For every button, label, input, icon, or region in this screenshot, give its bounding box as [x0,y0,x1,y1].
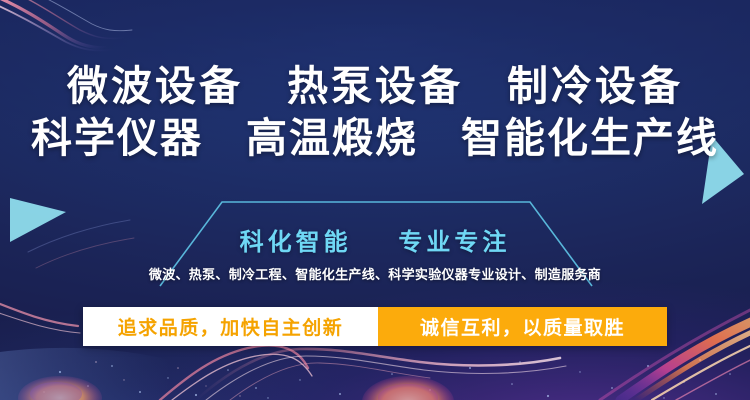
slogan-bar-left: 追求品质，加快自主创新 [83,307,378,346]
triangle-arrow-right-icon-right [700,130,746,210]
slogan-right: 专业专注 [398,228,510,256]
slogan-left: 科化智能 [240,228,352,256]
promo-banner: 微波设备 热泵设备 制冷设备 科学仪器 高温煅烧 智能化生产线 科化智能 专业专… [0,0,750,400]
services-line: 微波、热泵、制冷工程、智能化生产线、科学实验仪器专业设计、制造服务商 [0,264,750,283]
slogan-bar-right: 诚信互利，以质量取胜 [378,307,667,346]
slogan-bar: 追求品质，加快自主创新 诚信互利，以质量取胜 [83,307,667,346]
slogan-line: 科化智能 专业专注 [0,222,750,257]
